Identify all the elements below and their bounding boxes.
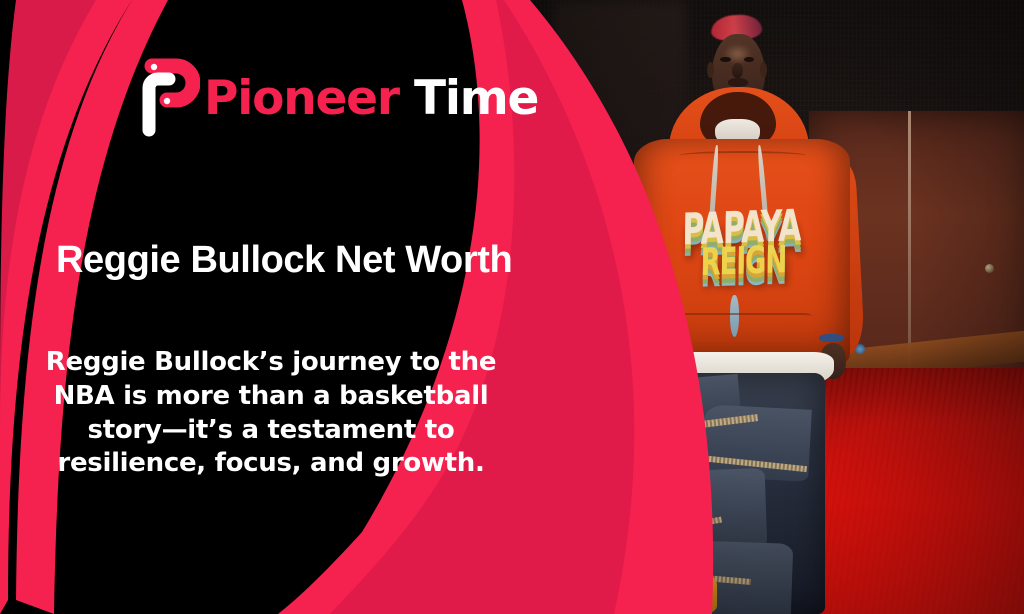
pioneer-p-logo-icon [138,58,200,138]
logo-wordmark: Pioneer Time [204,75,538,122]
photo-scene: PAPAYA REIGN [512,0,1024,614]
article-hero-banner: PAPAYA REIGN [0,0,1024,614]
logo-word-time: Time [414,71,538,126]
logo-word-pioneer: Pioneer [204,71,414,126]
photo-vignette [512,0,1024,614]
text-panel: Pioneer Time Reggie Bullock Net Worth Re… [0,0,560,614]
page-title: Reggie Bullock Net Worth [56,239,556,282]
hero-description: Reggie Bullock’s journey to the NBA is m… [36,346,506,481]
hero-photo: PAPAYA REIGN [512,0,1024,614]
site-logo[interactable]: Pioneer Time [138,58,538,138]
